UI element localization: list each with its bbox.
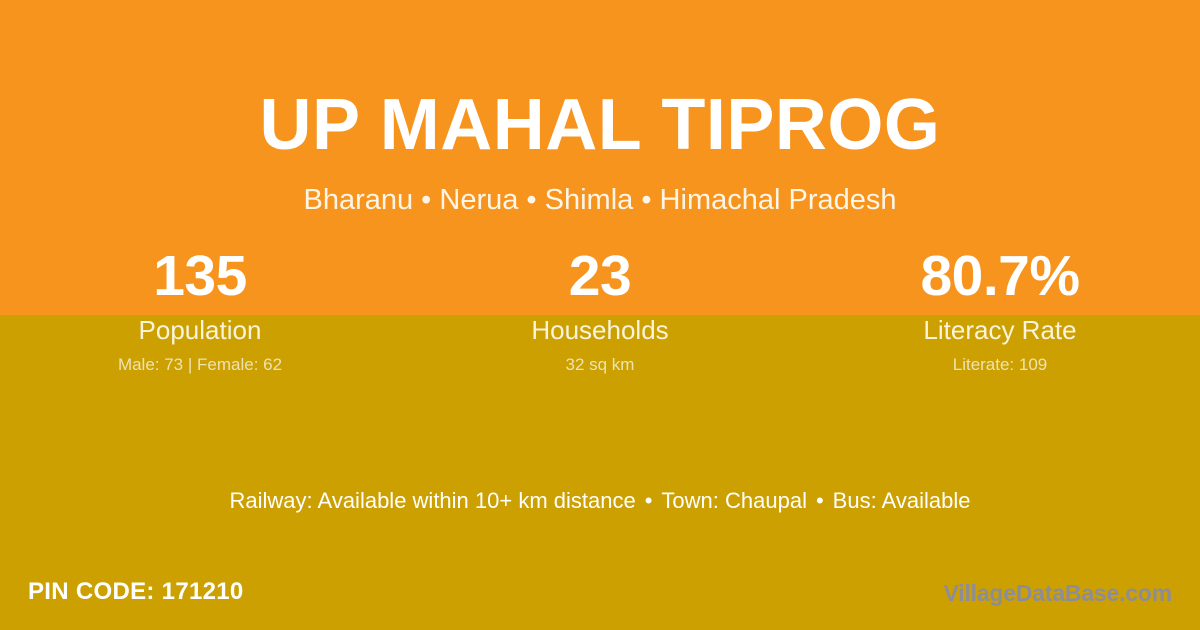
stat-households: 23 Households 32 sq km [400,244,800,376]
site-brand: VillageDataBase.com [944,578,1172,608]
stats-row: 135 Population Male: 73 | Female: 62 23 … [0,244,1200,376]
stat-value: 23 [400,244,800,308]
page-title: UP MAHAL TIPROG [0,82,1200,168]
amenity-bus: Bus: Available [833,488,971,513]
breadcrumb: Bharanu • Nerua • Shimla • Himachal Prad… [0,182,1200,218]
stat-sublabel: Male: 73 | Female: 62 [0,354,400,376]
stat-label: Literacy Rate [800,314,1200,346]
stat-literacy-rate: 80.7% Literacy Rate Literate: 109 [800,244,1200,376]
amenities-line: Railway: Available within 10+ km distanc… [0,486,1200,516]
stat-population: 135 Population Male: 73 | Female: 62 [0,244,400,376]
stat-sublabel: Literate: 109 [800,354,1200,376]
stat-label: Population [0,314,400,346]
card-footer: PIN CODE: 171210 VillageDataBase.com [0,572,1200,630]
stat-value: 80.7% [800,244,1200,308]
amenity-town: Town: Chaupal [661,488,807,513]
amenity-separator: • [636,488,662,513]
stat-label: Households [400,314,800,346]
stat-value: 135 [0,244,400,308]
stat-sublabel: 32 sq km [400,354,800,376]
pin-code: PIN CODE: 171210 [28,576,244,608]
village-info-card: UP MAHAL TIPROG Bharanu • Nerua • Shimla… [0,0,1200,630]
amenity-railway: Railway: Available within 10+ km distanc… [230,488,636,513]
amenity-separator: • [807,488,833,513]
